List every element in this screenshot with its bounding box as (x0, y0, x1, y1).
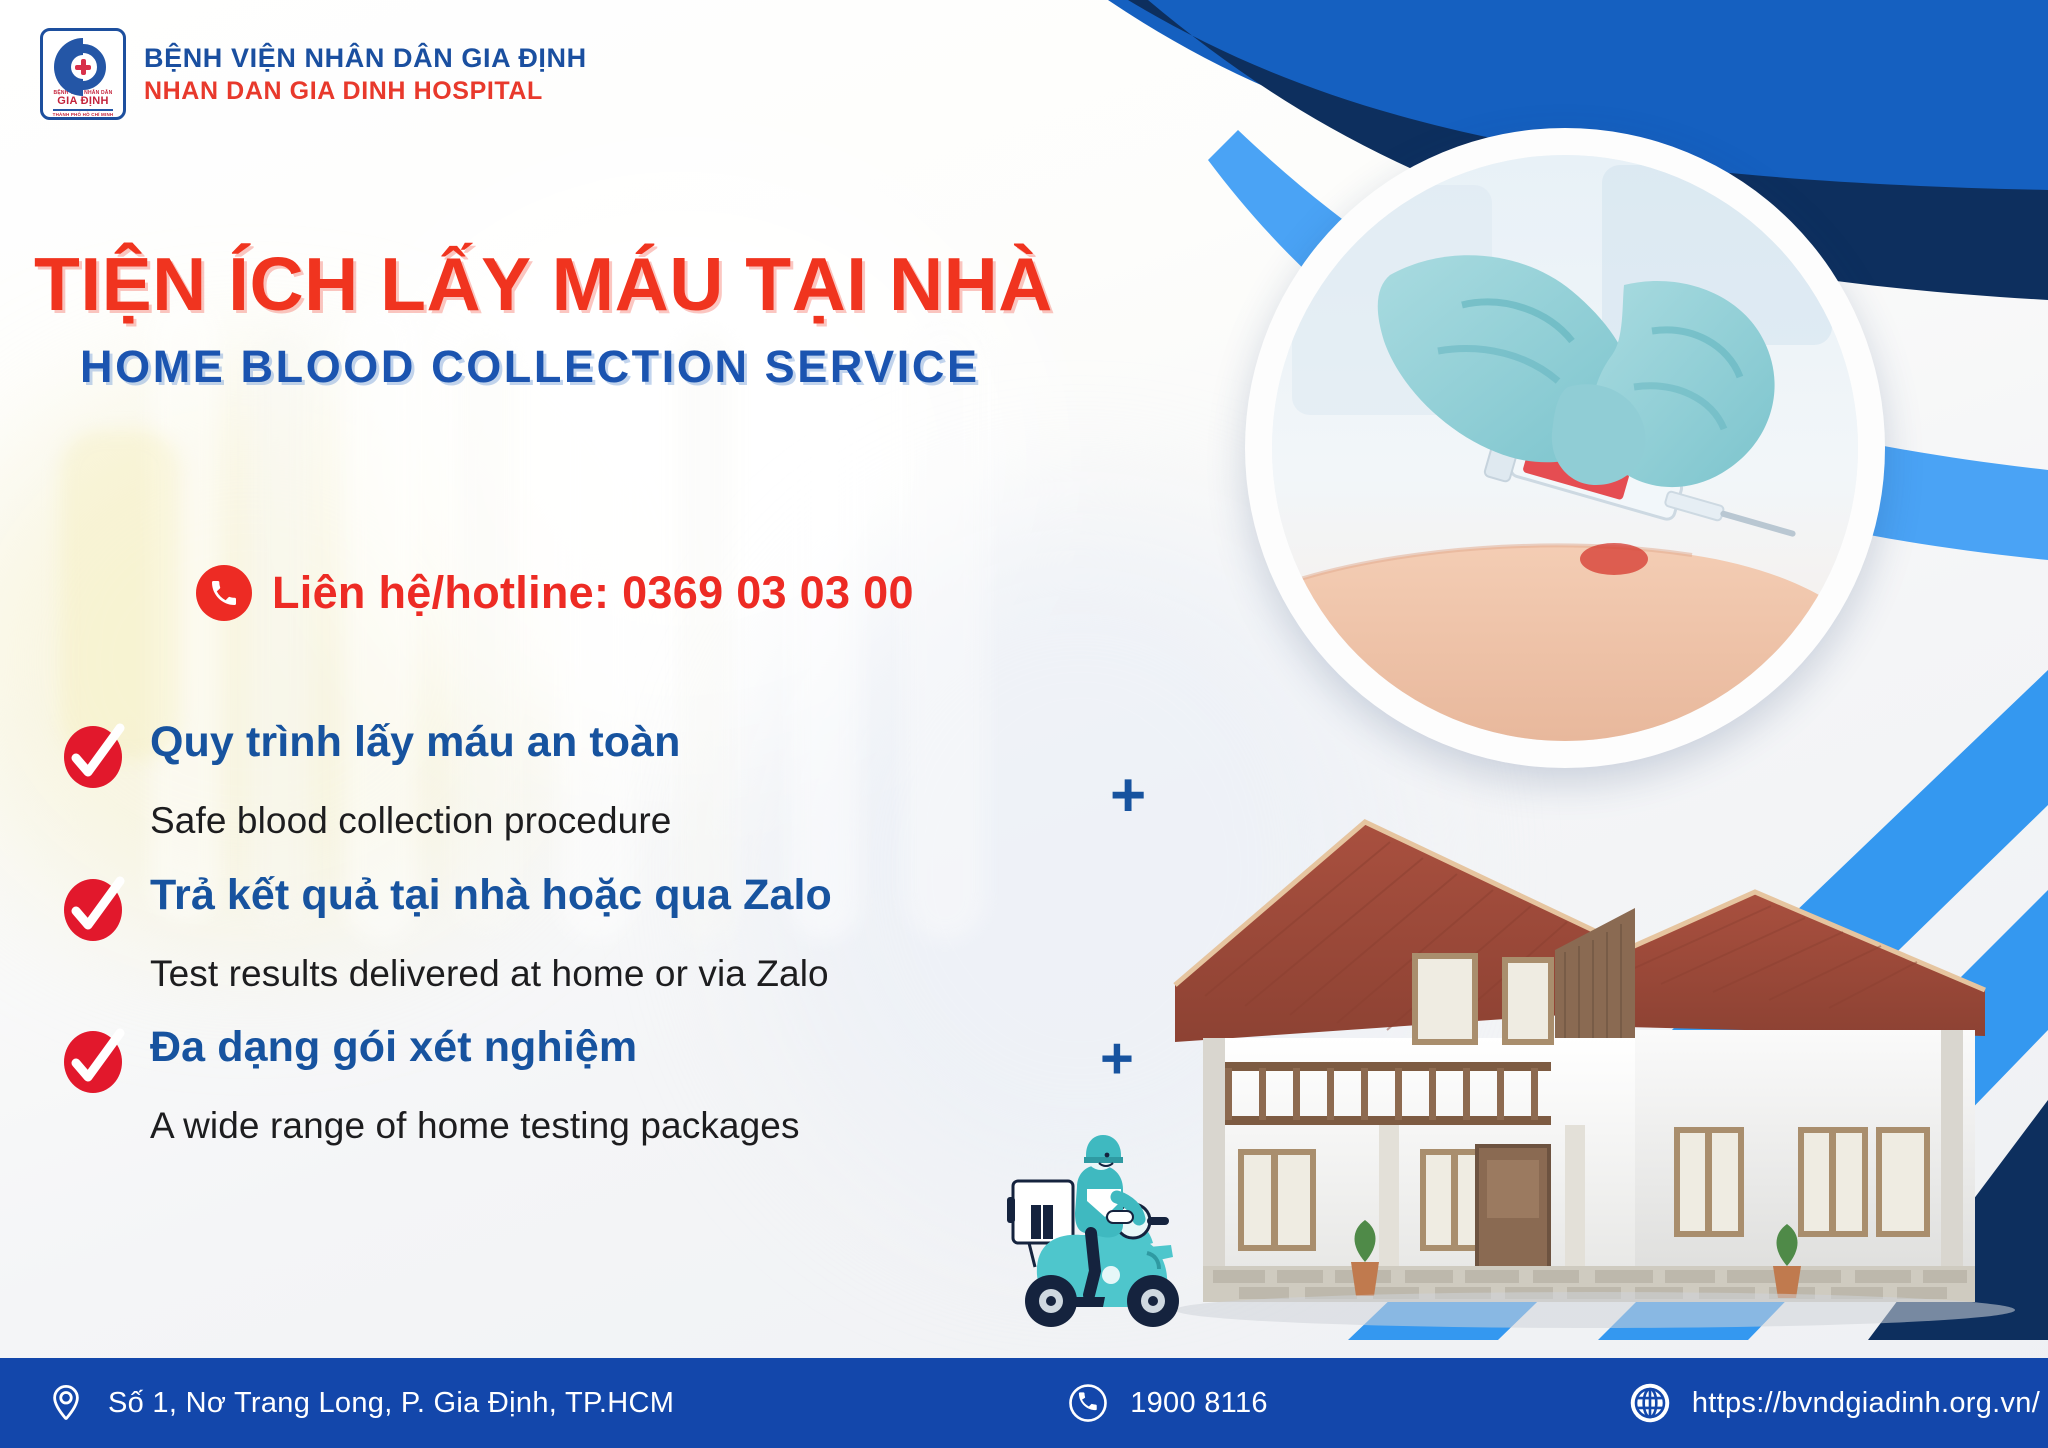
plus-decoration-icon: + (1110, 765, 1146, 827)
check-badge-icon (62, 873, 126, 943)
footer-bar: Số 1, Nơ Trang Long, P. Gia Định, TP.HCM… (0, 1358, 2048, 1448)
globe-icon (1628, 1381, 1672, 1425)
feature-title-en: Safe blood collection procedure (150, 800, 1082, 843)
feature-title-en: Test results delivered at home or via Za… (150, 953, 1082, 996)
page-subtitle: HOME BLOOD COLLECTION SERVICE (80, 341, 1053, 393)
footer-address-text: Số 1, Nơ Trang Long, P. Gia Định, TP.HCM (108, 1387, 674, 1420)
page-title: TIỆN ÍCH LẤY MÁU TẠI NHÀ (34, 246, 1053, 323)
list-item: Đa dạng gói xét nghiệm A wide range of h… (62, 1023, 1082, 1148)
footer-address[interactable]: Số 1, Nơ Trang Long, P. Gia Định, TP.HCM (44, 1381, 674, 1425)
hotline-text: Liên hệ/hotline: 0369 03 03 00 (272, 567, 914, 619)
logo-line3: THÀNH PHỐ HỒ CHÍ MINH (53, 112, 114, 117)
feature-title-vi: Trả kết quả tại nhà hoặc qua Zalo (150, 871, 832, 919)
brand-name-vi: BỆNH VIỆN NHÂN DÂN GIA ĐỊNH (144, 42, 587, 74)
feature-title-vi: Đa dạng gói xét nghiệm (150, 1023, 637, 1071)
plus-decoration-icon: + (1100, 1030, 1134, 1088)
headline-block: TIỆN ÍCH LẤY MÁU TẠI NHÀ HOME BLOOD COLL… (34, 246, 1053, 393)
hotline-block[interactable]: Liên hệ/hotline: 0369 03 03 00 (196, 565, 914, 621)
hospital-logo-icon: BỆNH VIỆN NHÂN DÂN GIA ĐỊNH THÀNH PHỐ HỒ… (40, 28, 126, 120)
footer-phone-text: 1900 8116 (1130, 1387, 1268, 1420)
footer-phone[interactable]: 1900 8116 (1066, 1381, 1268, 1425)
brand-header: BỆNH VIỆN NHÂN DÂN GIA ĐỊNH THÀNH PHỐ HỒ… (40, 28, 587, 120)
phone-circle-icon (1066, 1381, 1110, 1425)
feature-list: Quy trình lấy máu an toàn Safe blood col… (62, 718, 1082, 1176)
list-item: Trả kết quả tại nhà hoặc qua Zalo Test r… (62, 871, 1082, 996)
house-photo (1165, 800, 2048, 1330)
location-pin-icon (44, 1381, 88, 1425)
phone-icon (196, 565, 252, 621)
blood-draw-photo (1272, 155, 1858, 741)
logo-line2: GIA ĐỊNH (57, 96, 109, 107)
footer-website-text: https://bvndgiadinh.org.vn/ (1692, 1387, 2040, 1420)
brand-name-en: NHAN DAN GIA DINH HOSPITAL (144, 76, 587, 106)
footer-website[interactable]: https://bvndgiadinh.org.vn/ (1628, 1381, 2040, 1425)
feature-title-vi: Quy trình lấy máu an toàn (150, 718, 681, 766)
list-item: Quy trình lấy máu an toàn Safe blood col… (62, 718, 1082, 843)
check-badge-icon (62, 1025, 126, 1095)
poster-root: BỆNH VIỆN NHÂN DÂN GIA ĐỊNH THÀNH PHỐ HỒ… (0, 0, 2048, 1448)
check-badge-icon (62, 720, 126, 790)
feature-title-en: A wide range of home testing packages (150, 1105, 1082, 1148)
